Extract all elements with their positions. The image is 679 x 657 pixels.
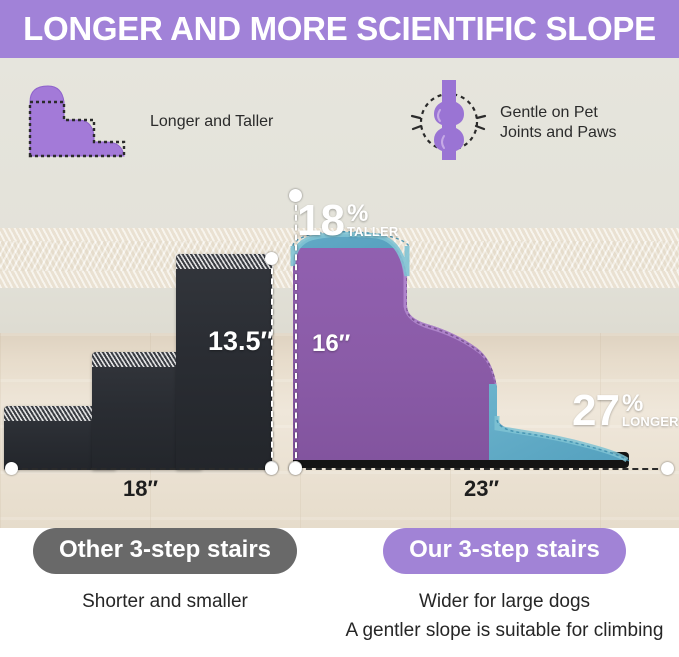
stair-step-3 [176,254,272,470]
caption-other-1: Shorter and smaller [0,587,330,616]
comparison-column-ours: Our 3-step stairs Wider for large dogs A… [330,528,679,645]
badge-word: TALLER [347,225,399,239]
width-label-ours: 23″ [464,476,499,502]
height-dim-line-other [271,258,273,468]
feature-gentle-on-joints: Gentle on Pet Joints and Paws [410,80,617,165]
comparison-column-other: Other 3-step stairs Shorter and smaller [0,528,330,616]
comparison-section: Other 3-step stairs Shorter and smaller … [0,528,679,657]
height-label-other: 13.5″ [208,326,273,357]
height-label-ours: 16″ [312,330,350,358]
badge-percent-symbol: % [622,393,643,415]
badge-number: 18 [297,202,344,240]
pill-other-stairs: Other 3-step stairs [33,528,297,574]
width-dim-line-ours [296,468,668,470]
dim-endpoint-dot [289,462,302,475]
caption-ours-1: Wider for large dogs [330,587,679,616]
badge-number: 27 [572,392,619,430]
dim-endpoint-dot [265,252,278,265]
other-product-stairs [4,254,272,470]
dim-endpoint-dot [661,462,674,475]
feature-label: Longer and Taller [150,112,273,132]
caption-ours-2: A gentler slope is suitable for climbing [330,616,679,645]
dim-endpoint-dot [265,462,278,475]
dim-endpoint-dot [5,462,18,475]
badge-18-percent-taller: 18 % TALLER [297,202,398,240]
pet-joint-icon [410,80,488,165]
stair-tread [176,254,272,269]
product-scene: Longer and Taller Gentle on [0,58,679,528]
product-comparison-infographic: LONGER AND MORE SCIENTIFIC SLOPE Longer … [0,0,679,657]
feature-label: Gentle on Pet Joints and Paws [500,103,617,143]
page-title: LONGER AND MORE SCIENTIFIC SLOPE [23,10,656,48]
badge-word: LONGER [622,415,679,429]
stairs-icon [22,80,138,163]
badge-27-percent-longer: 27 % LONGER [572,392,679,430]
pill-our-stairs: Our 3-step stairs [383,528,626,574]
badge-percent-symbol: % [347,203,368,225]
width-dim-line-other [12,468,274,470]
feature-longer-and-taller: Longer and Taller [22,80,273,163]
header-banner: LONGER AND MORE SCIENTIFIC SLOPE [0,0,679,58]
width-label-other: 18″ [123,476,158,502]
